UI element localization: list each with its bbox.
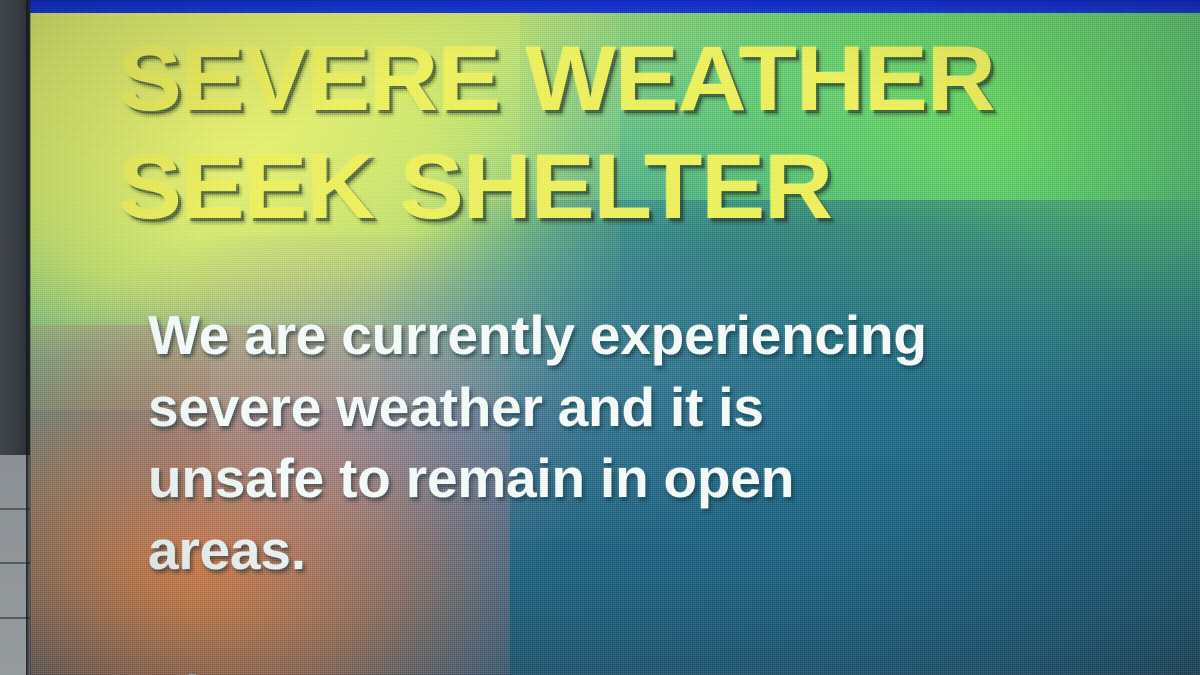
bezel-inner-edge [26, 0, 31, 675]
warning-body-text: We are currently experiencing severe wea… [148, 300, 1158, 586]
display-content: SEVERE WEATHER SEEK SHELTER We are curre… [30, 0, 1200, 675]
cropped-paragraph-text: Please [148, 668, 322, 675]
body-line-1: We are currently experiencing [148, 300, 1158, 372]
headline-line-2: SEEK SHELTER [118, 148, 832, 227]
screenshot-stage: SEVERE WEATHER SEEK SHELTER We are curre… [0, 0, 1200, 675]
led-information-display: SEVERE WEATHER SEEK SHELTER We are curre… [30, 0, 1200, 675]
body-line-2: severe weather and it is [148, 372, 1158, 444]
cropped-paragraph-clip: Please [148, 668, 1158, 675]
body-line-3: unsafe to remain in open [148, 443, 1158, 515]
headline-line-1: SEVERE WEATHER [118, 40, 995, 119]
body-line-4: areas. [148, 515, 1158, 587]
